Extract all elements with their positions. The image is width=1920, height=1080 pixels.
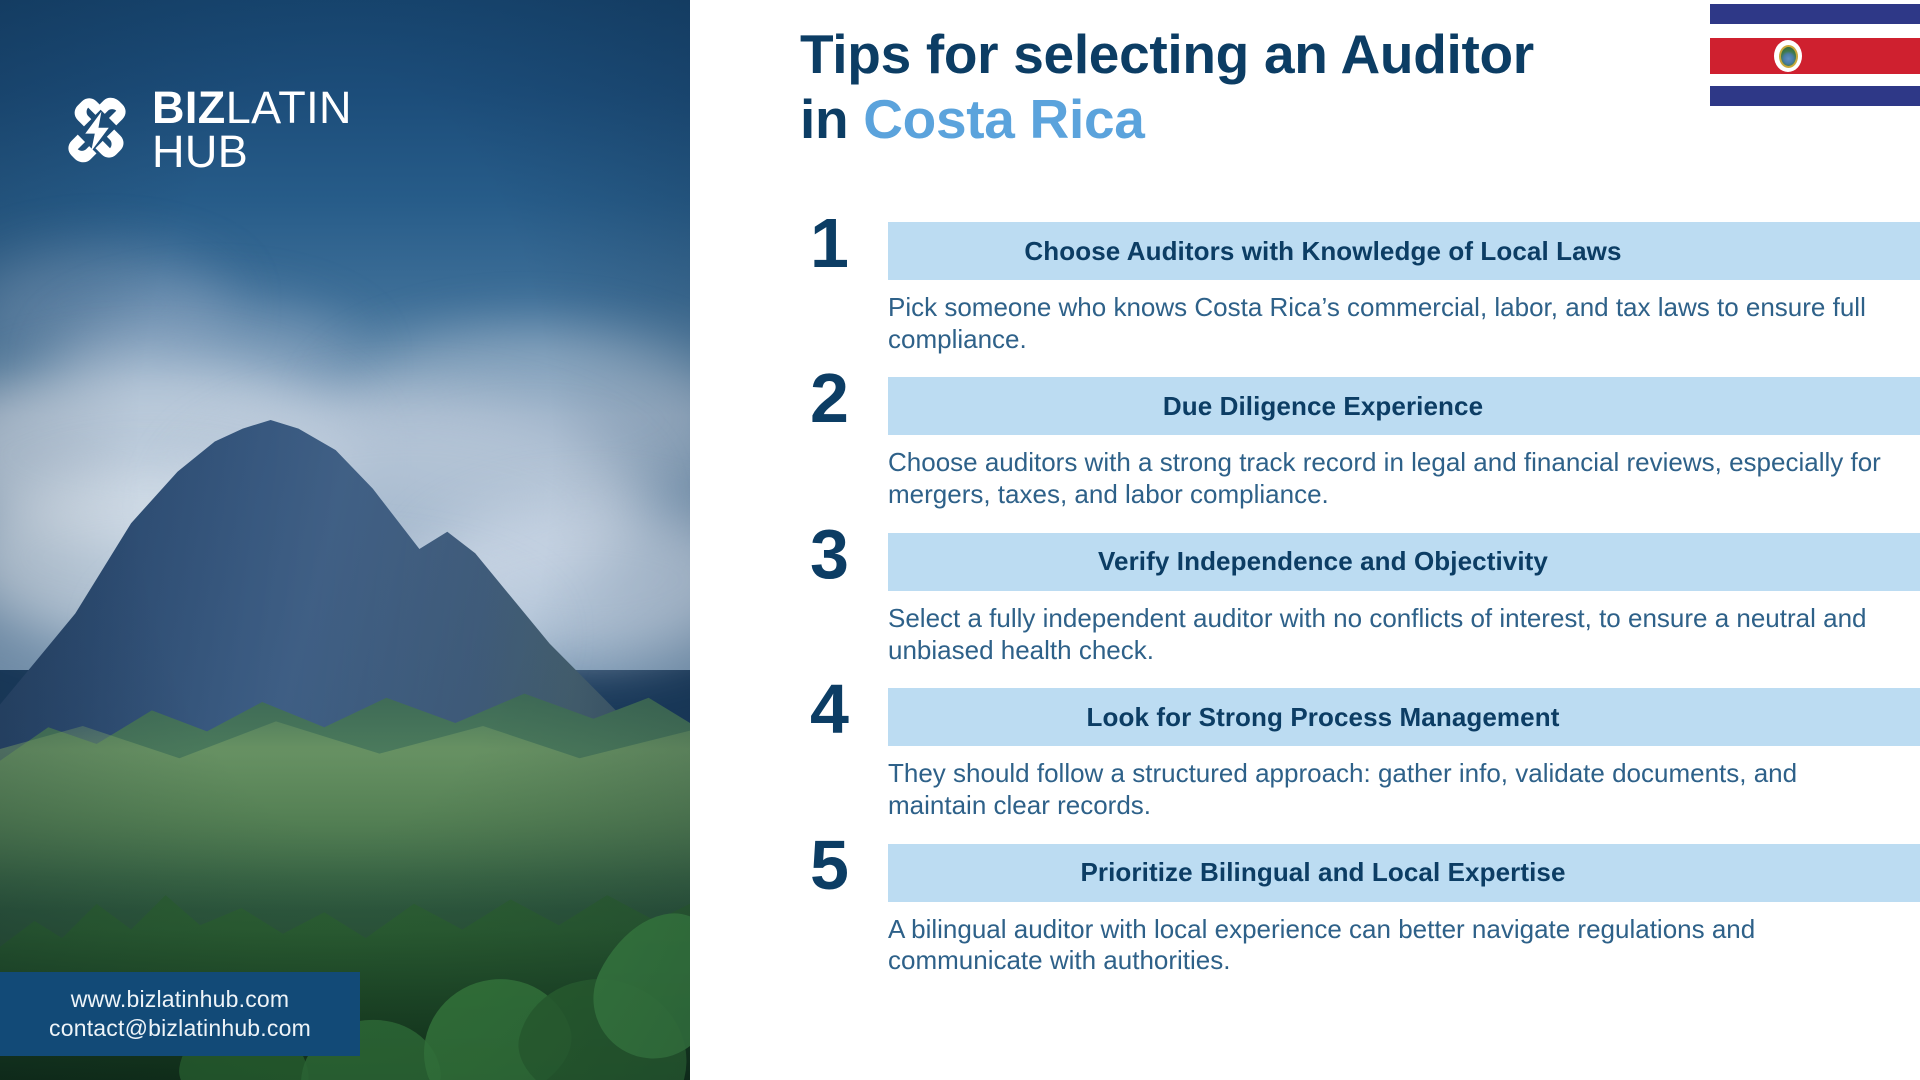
tip-header: 2 Due Diligence Experience (690, 377, 1920, 435)
content-panel: Tips for selecting an Auditor in Costa R… (690, 0, 1920, 1080)
title-line-2: in Costa Rica (800, 87, 1890, 152)
tip-description: Select a fully independent auditor with … (888, 603, 1910, 666)
tip-number: 3 (790, 519, 868, 589)
tip-description: They should follow a structured approach… (888, 758, 1888, 821)
tip-heading: Verify Independence and Objectivity (888, 546, 1758, 577)
tip-heading: Choose Auditors with Knowledge of Local … (888, 236, 1758, 267)
tip-heading-band: Due Diligence Experience (888, 377, 1920, 435)
tip-number: 2 (790, 363, 868, 433)
bizlatinhub-diamond-icon (60, 91, 134, 169)
contact-info-box: www.bizlatinhub.com contact@bizlatinhub.… (0, 972, 360, 1056)
tip-heading-band: Verify Independence and Objectivity (888, 533, 1920, 591)
tip-heading-band: Prioritize Bilingual and Local Expertise (888, 844, 1920, 902)
logo-wordmark: BIZLATIN HUB (152, 86, 352, 174)
tip-item: 3 Verify Independence and Objectivity Se… (690, 533, 1920, 666)
tip-heading-band: Look for Strong Process Management (888, 688, 1920, 746)
volcano-photo-panel: BIZLATIN HUB www.bizlatinhub.com contact… (0, 0, 690, 1080)
tip-description: Pick someone who knows Costa Rica’s comm… (888, 292, 1898, 355)
tip-description: A bilingual auditor with local experienc… (888, 914, 1888, 977)
tip-header: 5 Prioritize Bilingual and Local Experti… (690, 844, 1920, 902)
tip-heading: Due Diligence Experience (888, 391, 1758, 422)
tip-number: 5 (790, 830, 868, 900)
tip-item: 5 Prioritize Bilingual and Local Experti… (690, 844, 1920, 977)
tip-heading-band: Choose Auditors with Knowledge of Local … (888, 222, 1920, 280)
tip-description: Choose auditors with a strong track reco… (888, 447, 1920, 510)
tip-header: 1 Choose Auditors with Knowledge of Loca… (690, 222, 1920, 280)
tip-header: 3 Verify Independence and Objectivity (690, 533, 1920, 591)
bizlatinhub-logo: BIZLATIN HUB (60, 86, 352, 174)
tip-heading: Prioritize Bilingual and Local Expertise (888, 857, 1758, 888)
tip-heading: Look for Strong Process Management (888, 702, 1758, 733)
logo-hub-text: HUB (152, 130, 352, 174)
tip-number: 1 (790, 208, 868, 278)
title-prefix: in (800, 88, 863, 150)
tip-item: 1 Choose Auditors with Knowledge of Loca… (690, 222, 1920, 355)
tip-header: 4 Look for Strong Process Management (690, 688, 1920, 746)
page-title: Tips for selecting an Auditor in Costa R… (800, 22, 1890, 152)
website-url[interactable]: www.bizlatinhub.com (71, 986, 290, 1013)
tip-number: 4 (790, 674, 868, 744)
tip-item: 2 Due Diligence Experience Choose audito… (690, 377, 1920, 510)
email-address[interactable]: contact@bizlatinhub.com (49, 1015, 311, 1042)
infographic-page: BIZLATIN HUB www.bizlatinhub.com contact… (0, 0, 1920, 1080)
title-country-accent: Costa Rica (863, 88, 1144, 150)
tip-item: 4 Look for Strong Process Management The… (690, 688, 1920, 821)
title-line-1: Tips for selecting an Auditor (800, 23, 1534, 85)
tips-list: 1 Choose Auditors with Knowledge of Loca… (690, 222, 1920, 977)
